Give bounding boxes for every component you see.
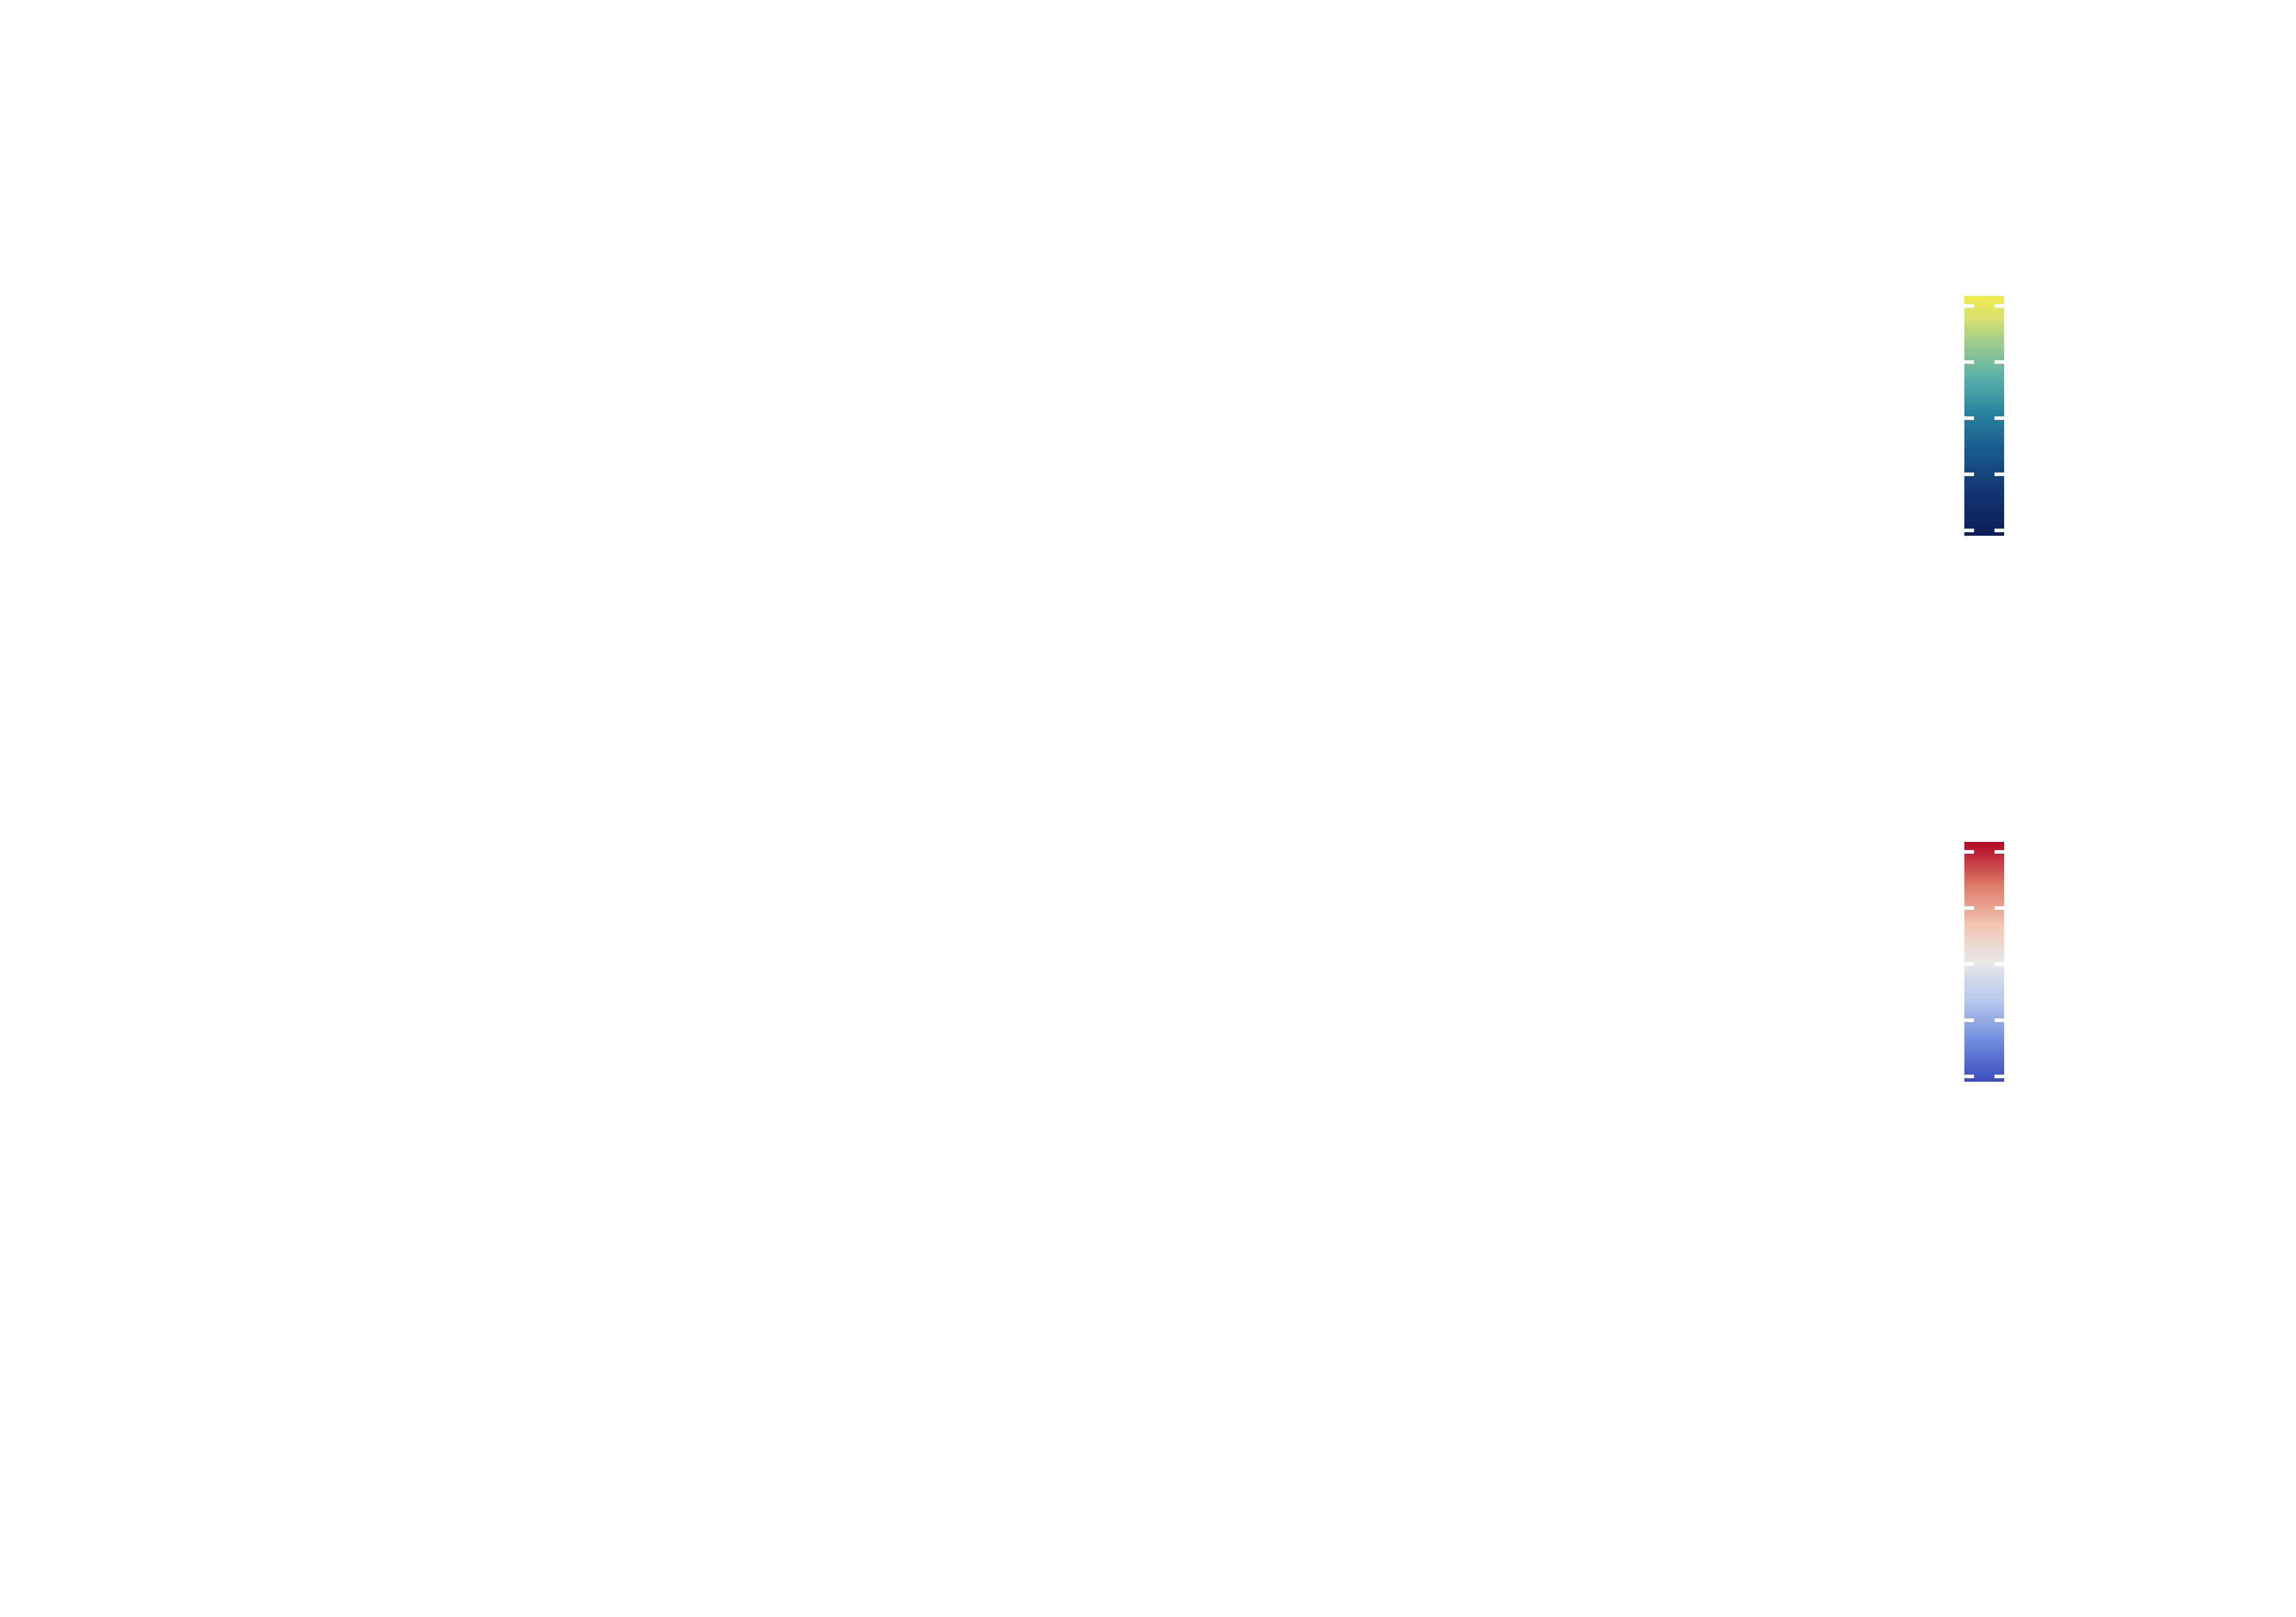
nmf-weights-heatmap	[60, 669, 1820, 1200]
tf-family-colour-strip	[60, 102, 1820, 128]
tf-family-legend	[2087, 168, 2088, 178]
correlation-heatmap	[60, 130, 1820, 663]
colorbar-pearson-gradient	[1964, 296, 2004, 536]
colorbar-nmf-gradient	[1964, 842, 2004, 1082]
